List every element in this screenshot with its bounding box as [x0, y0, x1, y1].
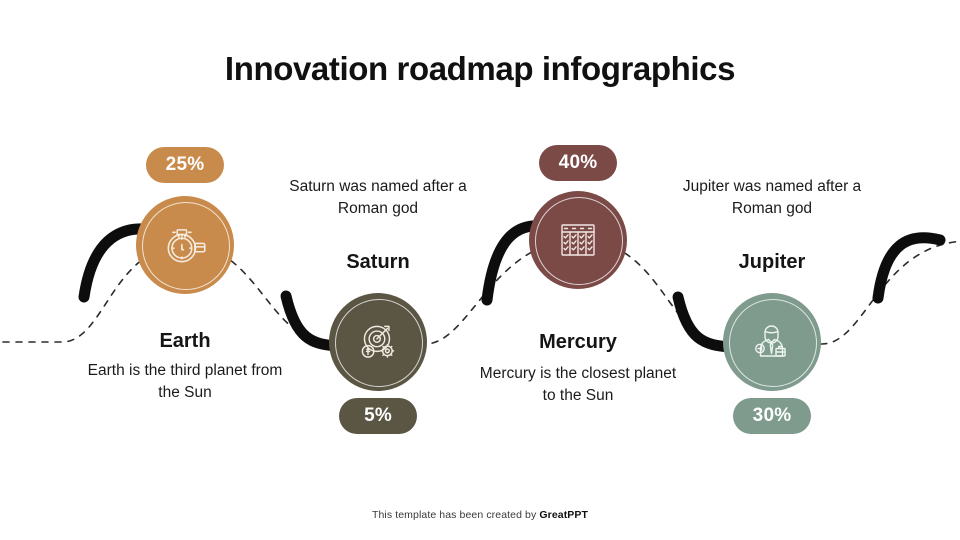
- step-jupiter-disc[interactable]: [723, 293, 821, 391]
- businessperson-icon: [748, 318, 796, 366]
- step-saturn-description: Saturn was named after a Roman god: [278, 176, 478, 221]
- connector-arc-tail: [878, 238, 940, 298]
- step-jupiter-title: Jupiter: [672, 251, 872, 274]
- step-mercury-title: Mercury: [478, 331, 678, 354]
- step-saturn-title: Saturn: [278, 251, 478, 274]
- checklist-grid-icon: [554, 216, 602, 264]
- slide-canvas: Innovation roadmap infographics: [0, 0, 960, 540]
- step-mercury-description: Mercury is the closest planet to the Sun: [478, 363, 678, 408]
- step-mercury-percent-badge[interactable]: 40%: [539, 145, 617, 181]
- footer-credit-prefix: This template has been created by: [372, 509, 539, 521]
- step-earth-disc[interactable]: [136, 196, 234, 294]
- step-jupiter-percent-badge[interactable]: 30%: [733, 398, 811, 434]
- step-saturn-disc[interactable]: [329, 293, 427, 391]
- step-earth-title: Earth: [85, 330, 285, 353]
- target-goal-icon: [353, 317, 403, 367]
- step-saturn-percent-badge[interactable]: 5%: [339, 398, 417, 434]
- page-title: Innovation roadmap infographics: [0, 50, 960, 88]
- step-jupiter-description: Jupiter was named after a Roman god: [672, 176, 872, 221]
- footer-credit-brand: GreatPPT: [539, 509, 588, 521]
- footer-credit: This template has been created by GreatP…: [0, 509, 960, 521]
- step-earth-percent-badge[interactable]: 25%: [146, 147, 224, 183]
- stopwatch-icon: [160, 220, 210, 270]
- step-earth-description: Earth is the third planet from the Sun: [85, 360, 285, 405]
- step-mercury-disc[interactable]: [529, 191, 627, 289]
